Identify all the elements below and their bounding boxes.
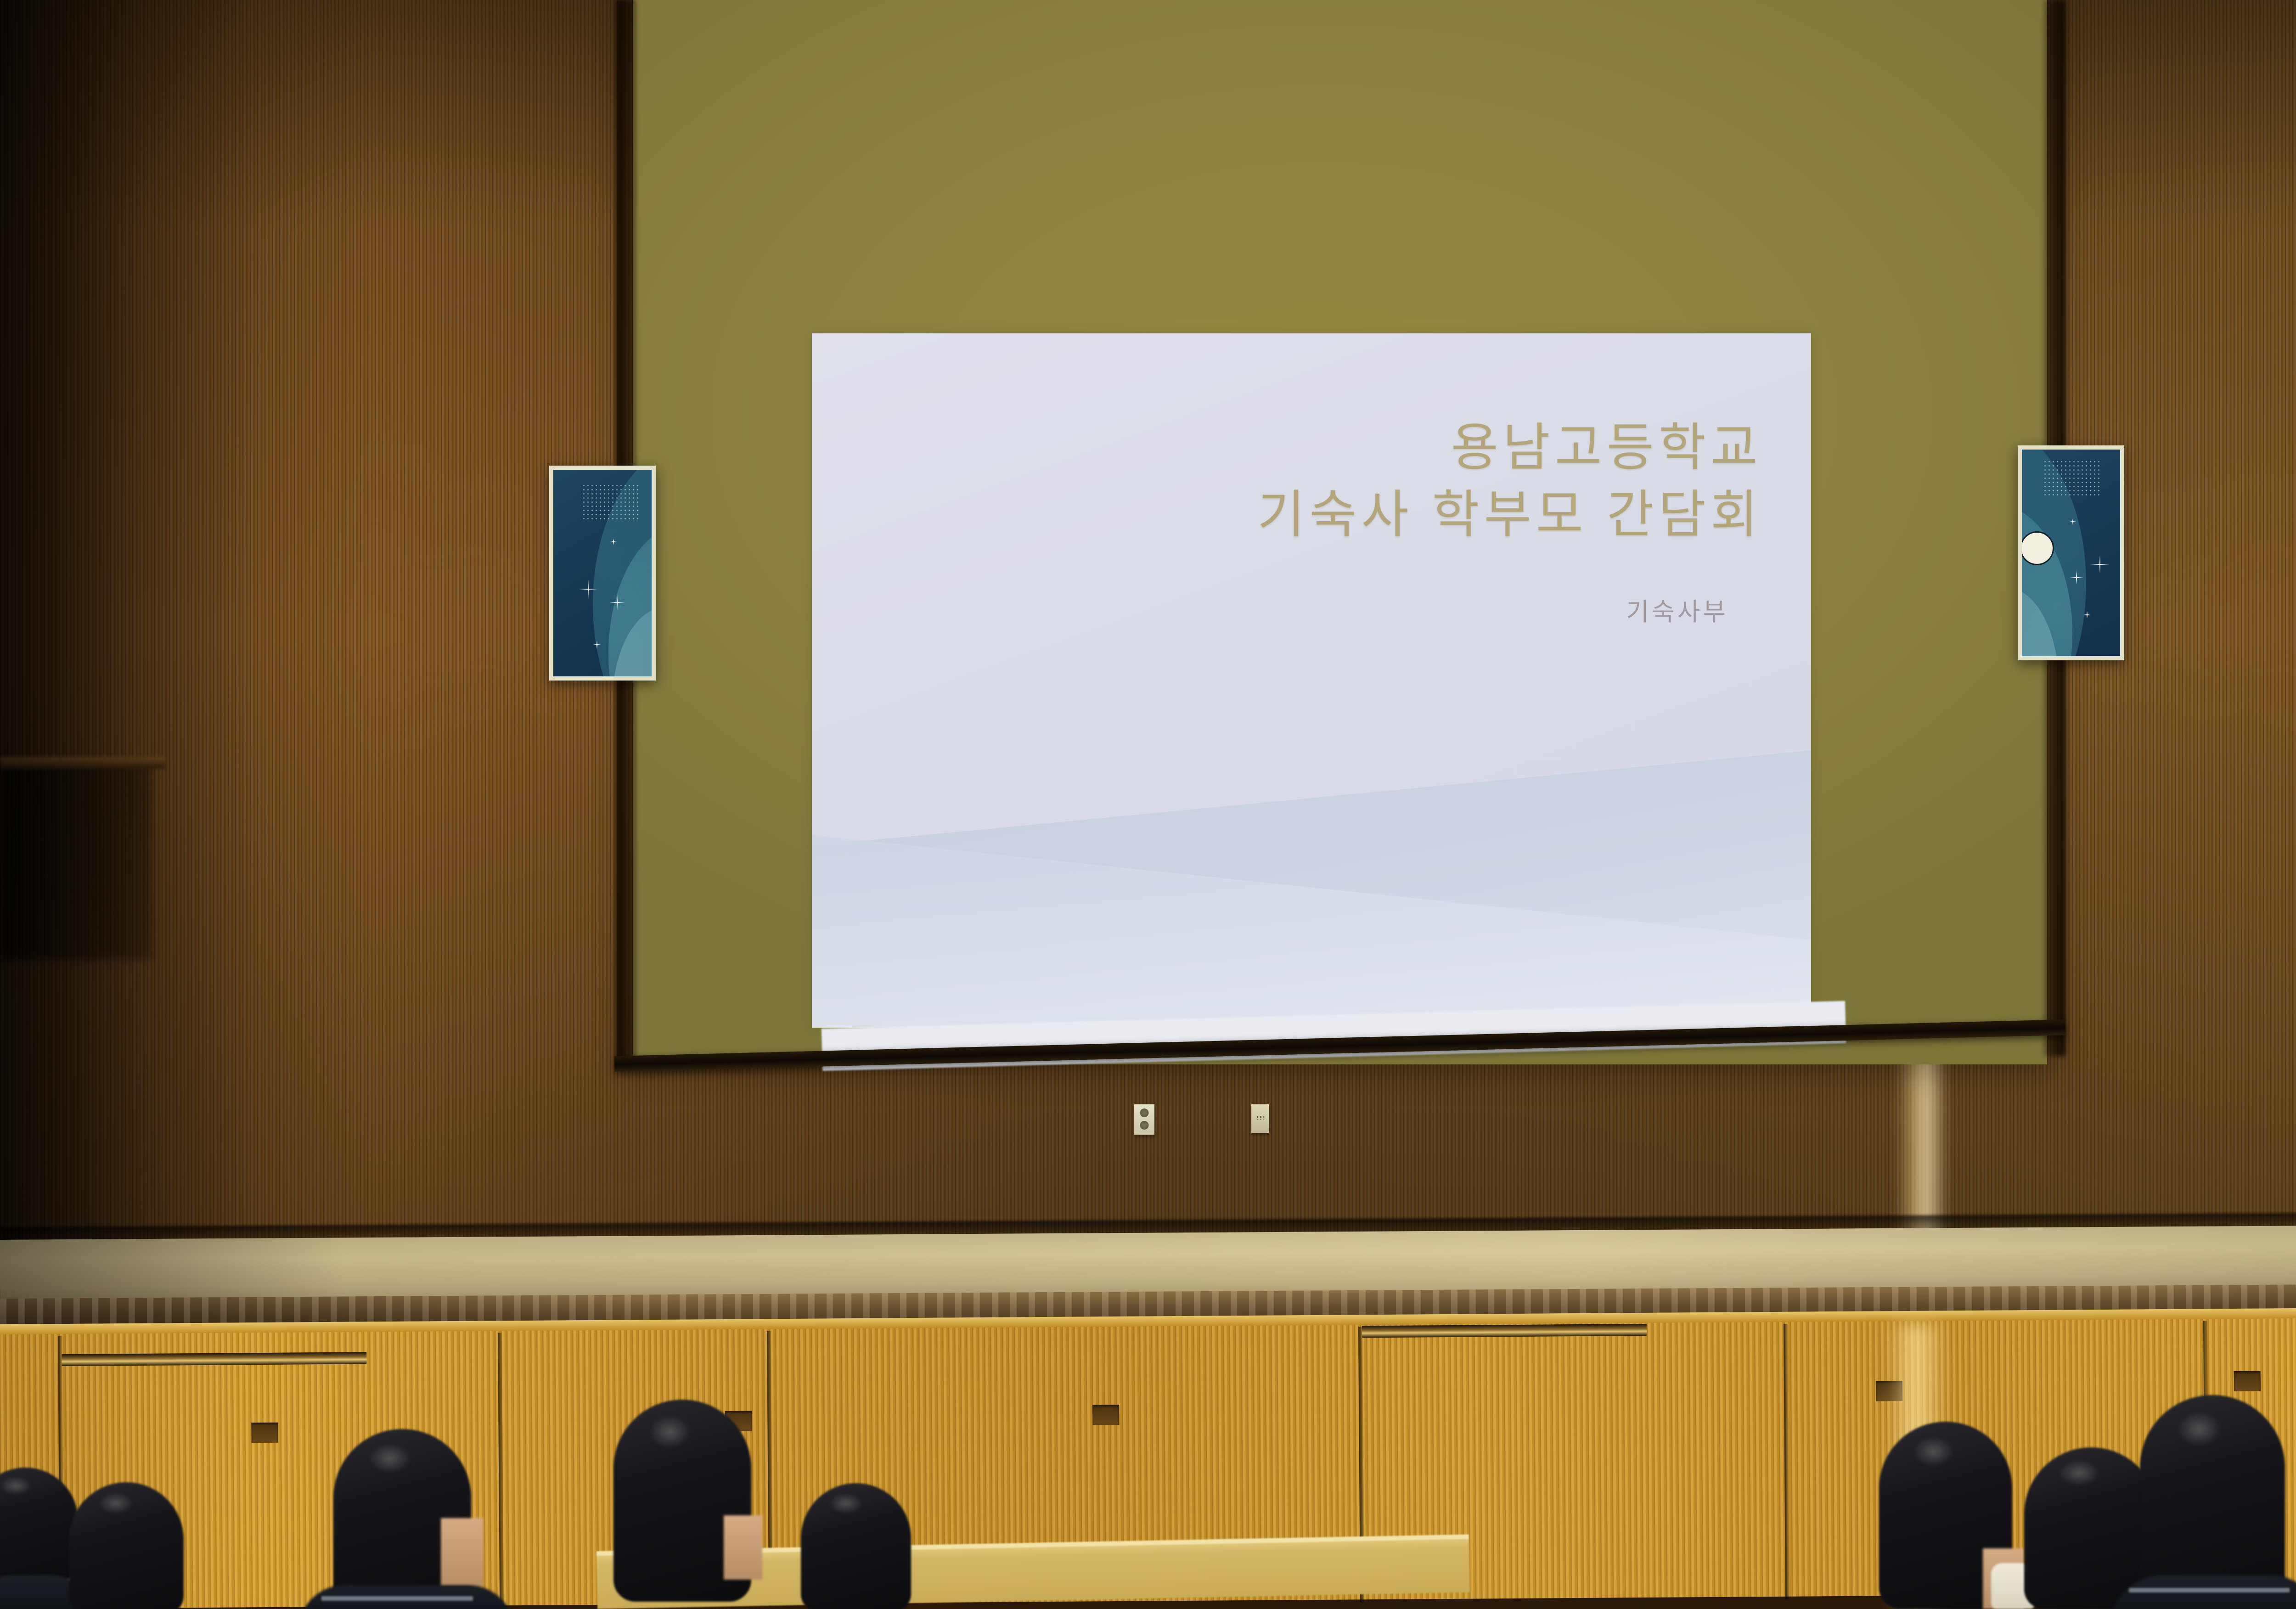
apron-vent-slot [2234,1371,2261,1391]
sparkle-icon [609,595,625,610]
auditorium-photo: 용남고등학교 기숙사 학부모 간담회 기숙사부 [0,0,2296,1609]
sparkle-icon [2070,571,2083,585]
sparkle-icon [593,641,601,649]
poster-dot-text-block [2043,460,2100,495]
hair-highlight [369,1444,411,1473]
audience-face [441,1518,483,1587]
jack-port-icon [1256,1115,1264,1120]
hair-highlight [0,1477,32,1495]
sparkle-icon [2091,555,2109,574]
hair-highlight [1913,1437,1953,1467]
list-item [801,1483,911,1609]
left-poster-artwork [553,470,652,676]
left-wall-poster [549,466,656,681]
presentation-slide: 용남고등학교 기숙사 학부모 간담회 기숙사부 [812,333,1811,1028]
apron-panel-seam [1784,1324,1790,1599]
power-outlet-plate [1134,1104,1154,1135]
hair-highlight [99,1493,133,1514]
slide-subtitle: 기숙사부 [1626,591,1728,628]
outlet-socket-icon [1140,1108,1149,1117]
slide-title: 용남고등학교 기숙사 학부모 간담회 [1257,414,1762,548]
jack-plate [1251,1104,1269,1133]
sparkle-icon [579,580,597,598]
right-wall-poster [2018,445,2124,660]
hair-highlight [829,1493,862,1514]
projection-screen: 용남고등학교 기숙사 학부모 간담회 기숙사부 [633,0,2047,1070]
sparkle-icon [2070,518,2076,525]
hair-highlight [2178,1412,2221,1446]
apron-panel-seam [498,1333,504,1608]
apron-vent-slot [1092,1405,1119,1425]
hair-highlight [649,1416,691,1448]
audience-face [724,1515,762,1580]
hair-highlight [2059,1460,2099,1486]
sparkle-icon [2083,611,2091,619]
apron-panel-handle[interactable] [62,1352,366,1366]
outlet-socket-icon [1140,1121,1149,1130]
uniform-collar-stripe [2129,1588,2290,1592]
right-poster-artwork [2022,450,2120,656]
apron-panel-handle[interactable] [1362,1324,1647,1338]
uniform-collar-stripe [321,1596,473,1601]
apron-vent-slot [251,1423,278,1443]
poster-dot-text-block [582,484,639,519]
list-item [69,1482,184,1609]
sparkle-icon [610,539,617,545]
